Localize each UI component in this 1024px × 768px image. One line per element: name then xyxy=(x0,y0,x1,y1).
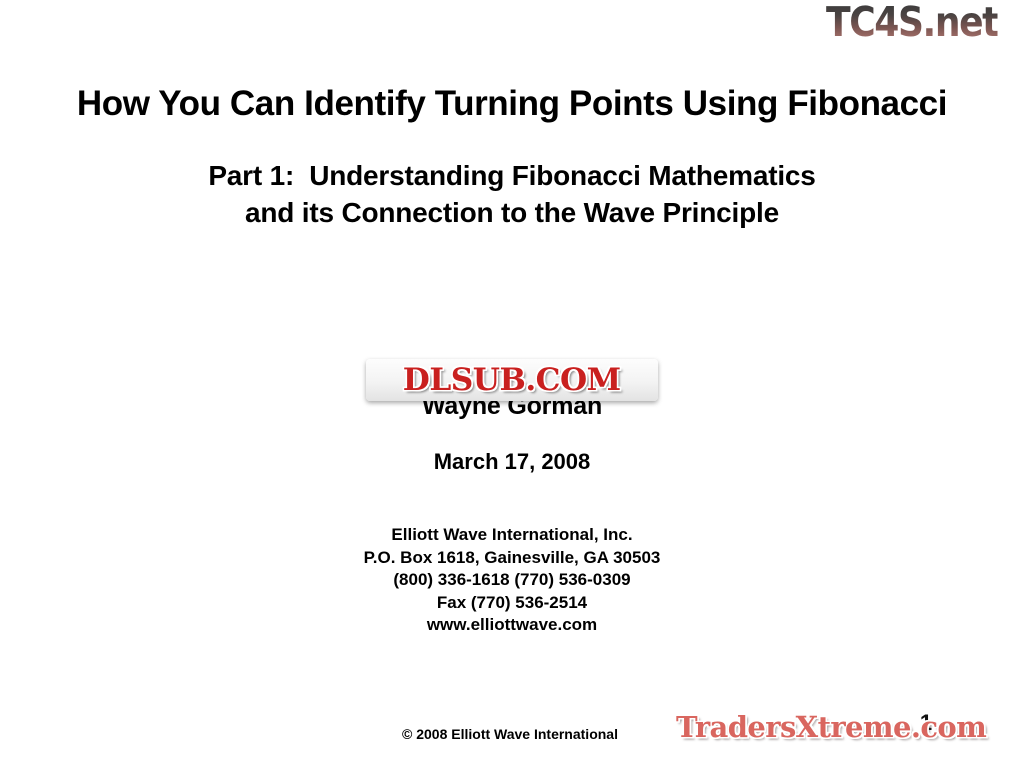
watermark-dlsub-label: DLSUB.COM xyxy=(403,362,621,398)
address-company-name: Elliott Wave International, Inc. xyxy=(0,524,1024,547)
slide-title: How You Can Identify Turning Points Usin… xyxy=(0,85,1024,123)
watermark-tradersxtreme: TradersXtreme.com xyxy=(676,713,986,742)
company-address-block: Elliott Wave International, Inc. P.O. Bo… xyxy=(0,524,1024,637)
address-fax: Fax (770) 536-2514 xyxy=(0,592,1024,615)
watermark-dlsub: DLSUB.COM xyxy=(366,359,658,401)
address-website[interactable]: www.elliottwave.com xyxy=(0,614,1024,637)
presentation-date: March 17, 2008 xyxy=(0,449,1024,475)
address-street: P.O. Box 1618, Gainesville, GA 30503 xyxy=(0,547,1024,570)
slide-subtitle: Part 1: Understanding Fibonacci Mathemat… xyxy=(0,157,1024,231)
watermark-tc4s: TC4S.net xyxy=(826,2,998,43)
presentation-slide: How You Can Identify Turning Points Usin… xyxy=(0,0,1024,768)
slide-subtitle-line-1: Part 1: Understanding Fibonacci Mathemat… xyxy=(0,157,1024,194)
address-phone: (800) 336-1618 (770) 536-0309 xyxy=(0,569,1024,592)
slide-subtitle-line-2: and its Connection to the Wave Principle xyxy=(0,194,1024,231)
